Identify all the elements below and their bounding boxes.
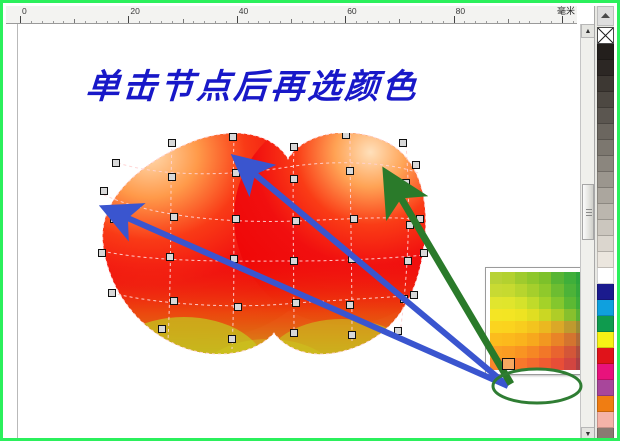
ruler-tick xyxy=(107,21,108,23)
color-swatch[interactable] xyxy=(551,333,563,345)
mesh-node-handle[interactable] xyxy=(231,256,238,263)
color-swatch[interactable] xyxy=(515,284,527,296)
instruction-headline: 单击节点后再选颜色 xyxy=(84,59,420,108)
color-swatch[interactable] xyxy=(527,321,539,333)
color-swatch[interactable] xyxy=(539,321,551,333)
color-swatch[interactable] xyxy=(527,297,539,309)
mesh-node-handle[interactable] xyxy=(171,298,178,305)
mesh-node-handle[interactable] xyxy=(291,144,298,151)
palette-swatch[interactable] xyxy=(597,364,614,380)
mesh-node-handle[interactable] xyxy=(417,216,424,223)
scrollbar-grip-icon xyxy=(586,209,592,216)
ruler-tick xyxy=(302,21,303,23)
ruler-tick xyxy=(313,21,314,23)
color-swatch[interactable] xyxy=(551,346,563,358)
color-swatch[interactable] xyxy=(527,358,539,370)
mesh-node-handle[interactable] xyxy=(421,250,428,257)
palette-swatch[interactable] xyxy=(597,380,614,396)
color-swatch[interactable] xyxy=(539,309,551,321)
ruler-tick xyxy=(96,21,97,23)
mesh-node-handle[interactable] xyxy=(229,336,236,343)
ruler-tick xyxy=(42,21,43,23)
mesh-node-handle[interactable] xyxy=(101,188,108,195)
color-swatch[interactable] xyxy=(490,297,502,309)
color-swatch[interactable] xyxy=(564,358,576,370)
color-swatch[interactable] xyxy=(539,297,551,309)
ruler-tick xyxy=(508,19,509,23)
color-swatch[interactable] xyxy=(515,346,527,358)
palette-swatch[interactable] xyxy=(597,140,614,156)
mesh-node-handle[interactable] xyxy=(113,160,120,167)
ruler-tick xyxy=(193,21,194,23)
no-color-swatch[interactable] xyxy=(597,27,614,44)
mesh-node-handle[interactable] xyxy=(230,134,237,141)
palette-swatch[interactable] xyxy=(597,204,614,220)
ruler-label: 0 xyxy=(22,6,27,16)
color-swatch[interactable] xyxy=(527,272,539,284)
ruler-tick xyxy=(421,21,422,23)
ruler-tick xyxy=(399,19,400,23)
color-swatch[interactable] xyxy=(490,272,502,284)
palette-swatch[interactable] xyxy=(597,156,614,172)
application-window: 020406080 毫米 单击节点后再选颜色 xyxy=(0,0,620,441)
mesh-node-handle[interactable] xyxy=(343,133,350,139)
color-swatch[interactable] xyxy=(490,309,502,321)
color-swatch[interactable] xyxy=(564,284,576,296)
ruler-tick xyxy=(215,21,216,23)
color-swatch[interactable] xyxy=(490,333,502,345)
palette-swatch-list[interactable] xyxy=(597,44,614,441)
ruler-label: 40 xyxy=(239,6,248,16)
docked-color-palette[interactable] xyxy=(594,6,614,441)
ruler-tick xyxy=(161,21,162,23)
ruler-tick xyxy=(139,21,140,23)
mesh-node-handle[interactable] xyxy=(291,176,298,183)
palette-swatch[interactable] xyxy=(597,124,614,140)
mesh-node-handle[interactable] xyxy=(413,162,420,169)
ruler-tick xyxy=(258,21,259,23)
mesh-node-handle[interactable] xyxy=(407,222,414,229)
color-swatch[interactable] xyxy=(515,272,527,284)
color-swatch[interactable] xyxy=(539,346,551,358)
mesh-node-handle[interactable] xyxy=(349,332,356,339)
ruler-tick xyxy=(150,21,151,23)
palette-swatch[interactable] xyxy=(597,188,614,204)
ruler-tick xyxy=(172,21,173,23)
palette-swatch[interactable] xyxy=(597,76,614,92)
palette-swatch[interactable] xyxy=(597,172,614,188)
mesh-node-handle[interactable] xyxy=(171,214,178,221)
ruler-tick xyxy=(74,19,75,23)
ruler-unit-label[interactable]: 毫米 xyxy=(557,7,575,18)
mesh-node-handle[interactable] xyxy=(349,256,356,263)
color-swatch[interactable] xyxy=(551,321,563,333)
ruler-tick xyxy=(486,21,487,23)
color-swatch[interactable] xyxy=(490,284,502,296)
ruler-tick xyxy=(118,21,119,23)
color-swatch[interactable] xyxy=(502,284,514,296)
color-swatch[interactable] xyxy=(502,333,514,345)
mesh-node-handle[interactable] xyxy=(159,326,166,333)
ruler-tick xyxy=(410,21,411,23)
ruler-tick xyxy=(443,21,444,23)
mesh-node-handle[interactable] xyxy=(405,258,412,265)
color-swatch[interactable] xyxy=(490,346,502,358)
palette-swatch[interactable] xyxy=(597,108,614,124)
ruler-label: 60 xyxy=(347,6,356,16)
color-swatch[interactable] xyxy=(564,333,576,345)
mesh-node-handle[interactable] xyxy=(347,302,354,309)
ruler-label: 80 xyxy=(456,6,465,16)
palette-swatch[interactable] xyxy=(597,316,614,332)
vertical-scrollbar[interactable]: ▲ ▼ xyxy=(580,24,594,441)
palette-swatch[interactable] xyxy=(597,220,614,236)
mesh-node-handle[interactable] xyxy=(351,216,358,223)
mesh-node-handle[interactable] xyxy=(403,180,410,187)
color-swatch[interactable] xyxy=(551,358,563,370)
color-swatch[interactable] xyxy=(527,333,539,345)
ruler-tick xyxy=(573,21,574,23)
ruler-tick xyxy=(345,16,346,23)
ruler-tick xyxy=(237,16,238,23)
color-swatch[interactable] xyxy=(551,297,563,309)
ruler-tick xyxy=(389,21,390,23)
mesh-node-handle[interactable] xyxy=(233,216,240,223)
color-swatch[interactable] xyxy=(515,333,527,345)
mesh-node-handle[interactable] xyxy=(99,250,106,257)
palette-swatch[interactable] xyxy=(597,348,614,364)
ruler-tick xyxy=(540,21,541,23)
palette-swatch[interactable] xyxy=(597,300,614,316)
mesh-node-handle[interactable] xyxy=(167,254,174,261)
palette-swatch[interactable] xyxy=(597,44,614,60)
color-swatch-selected[interactable] xyxy=(502,358,514,370)
palette-swatch[interactable] xyxy=(597,284,614,300)
scroll-down-button[interactable]: ▼ xyxy=(581,427,595,441)
ruler-tick xyxy=(128,16,129,23)
color-swatch[interactable] xyxy=(502,272,514,284)
color-swatch[interactable] xyxy=(551,309,563,321)
palette-swatch[interactable] xyxy=(597,428,614,441)
ruler-tick xyxy=(53,21,54,23)
color-swatch[interactable] xyxy=(539,333,551,345)
palette-swatch[interactable] xyxy=(597,60,614,76)
color-swatch[interactable] xyxy=(551,284,563,296)
ruler-tick xyxy=(280,21,281,23)
color-swatch[interactable] xyxy=(564,321,576,333)
ruler-tick xyxy=(356,21,357,23)
mesh-node-handle[interactable] xyxy=(109,290,116,297)
mesh-node-handle[interactable] xyxy=(169,174,176,181)
drawing-canvas[interactable]: 单击节点后再选颜色 xyxy=(18,25,577,441)
mesh-node-handle[interactable] xyxy=(291,258,298,265)
ruler-tick xyxy=(63,21,64,23)
ruler-tick xyxy=(378,21,379,23)
color-swatch[interactable] xyxy=(564,297,576,309)
mesh-node-handle[interactable] xyxy=(291,330,298,337)
mesh-node-handle[interactable] xyxy=(293,218,300,225)
palette-swatch[interactable] xyxy=(597,268,614,284)
color-swatch[interactable] xyxy=(527,284,539,296)
color-swatch[interactable] xyxy=(515,297,527,309)
color-swatch[interactable] xyxy=(502,309,514,321)
ruler-tick xyxy=(497,21,498,23)
ruler-tick xyxy=(454,16,455,23)
palette-swatch[interactable] xyxy=(597,92,614,108)
color-swatch[interactable] xyxy=(515,321,527,333)
ruler-tick xyxy=(269,21,270,23)
ruler-tick xyxy=(367,21,368,23)
ruler-tick xyxy=(464,21,465,23)
mesh-node-handle[interactable] xyxy=(401,296,408,303)
mesh-node-handle[interactable] xyxy=(235,304,242,311)
ruler-tick xyxy=(324,21,325,23)
mesh-fill-apple-shape[interactable] xyxy=(98,133,428,373)
mesh-node-handle[interactable] xyxy=(347,168,354,175)
color-swatch[interactable] xyxy=(564,309,576,321)
color-swatch[interactable] xyxy=(515,358,527,370)
color-swatch[interactable] xyxy=(564,346,576,358)
ruler-tick xyxy=(291,19,292,23)
color-picker-flyout[interactable] xyxy=(485,267,593,375)
ruler-tick xyxy=(31,21,32,23)
horizontal-ruler[interactable]: 020406080 毫米 xyxy=(6,6,577,24)
color-swatch[interactable] xyxy=(502,297,514,309)
palette-swatch[interactable] xyxy=(597,332,614,348)
mesh-node-handle[interactable] xyxy=(293,300,300,307)
palette-swatch[interactable] xyxy=(597,236,614,252)
ruler-tick xyxy=(529,21,530,23)
mesh-node-handle[interactable] xyxy=(169,140,176,147)
color-swatch[interactable] xyxy=(539,358,551,370)
ruler-tick xyxy=(226,21,227,23)
ruler-tick xyxy=(204,21,205,23)
ruler-tick xyxy=(551,21,552,23)
color-swatch[interactable] xyxy=(527,346,539,358)
ruler-tick xyxy=(334,21,335,23)
mesh-node-handle[interactable] xyxy=(400,140,407,147)
scrollbar-thumb[interactable] xyxy=(582,184,594,240)
ruler-tick xyxy=(475,21,476,23)
scroll-up-button[interactable]: ▲ xyxy=(581,24,595,38)
ruler-label: 20 xyxy=(130,6,139,16)
palette-scroll-up-icon[interactable] xyxy=(597,6,614,26)
color-swatch[interactable] xyxy=(527,309,539,321)
color-swatch[interactable] xyxy=(539,284,551,296)
color-swatch[interactable] xyxy=(502,321,514,333)
palette-swatch[interactable] xyxy=(597,412,614,428)
color-swatch[interactable] xyxy=(564,272,576,284)
color-swatch[interactable] xyxy=(539,272,551,284)
mesh-node-handle[interactable] xyxy=(233,170,240,177)
ruler-tick xyxy=(519,21,520,23)
palette-swatch[interactable] xyxy=(597,252,614,268)
color-swatch[interactable] xyxy=(515,309,527,321)
color-swatch[interactable] xyxy=(490,358,502,370)
ruler-tick xyxy=(248,21,249,23)
color-swatch[interactable] xyxy=(502,346,514,358)
mesh-node-handle[interactable] xyxy=(111,216,118,223)
ruler-tick xyxy=(183,19,184,23)
ruler-tick xyxy=(20,16,21,23)
mesh-node-handle[interactable] xyxy=(411,292,418,299)
palette-swatch[interactable] xyxy=(597,396,614,412)
color-swatch[interactable] xyxy=(551,272,563,284)
color-picker-grid[interactable] xyxy=(490,272,588,370)
ruler-tick xyxy=(432,21,433,23)
color-swatch[interactable] xyxy=(490,321,502,333)
mesh-node-handle[interactable] xyxy=(395,328,402,335)
ruler-tick xyxy=(85,21,86,23)
